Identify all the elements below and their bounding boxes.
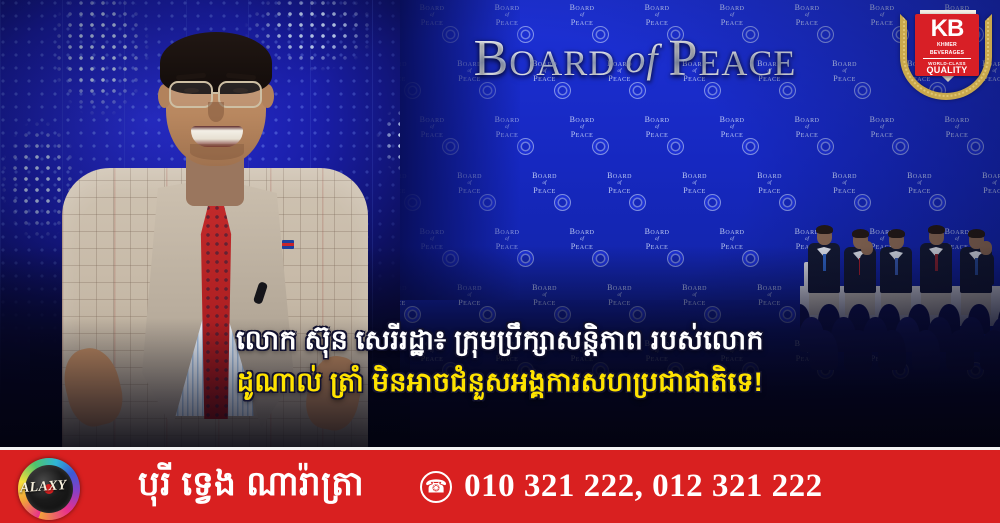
kb-red-plate: KB KHMER BEVERAGES WORLD-CLASS QUALITY — [915, 14, 979, 76]
speaker-nose — [208, 102, 224, 122]
kb-tagline-big: QUALITY — [927, 66, 968, 75]
speaker-eyeglass-lens-left — [169, 81, 213, 108]
sponsor-name-khmer: បុរី ទ្វេង ណារ៉ាត្រា — [138, 462, 364, 512]
galaxy-logo[interactable]: ALAXY — [4, 452, 96, 522]
kb-initials: KB — [931, 17, 964, 41]
headline-line-2: ដូណាល់ ត្រាំ មិនអាចជំនួសអង្គការសហប្រជាជា… — [237, 364, 763, 400]
kb-sponsor-logo: KB KHMER BEVERAGES WORLD-CLASS QUALITY — [898, 2, 994, 102]
speaker-chin — [190, 144, 244, 160]
phone-numbers: 010 321 222, 012 321 222 — [464, 468, 823, 505]
cambodian-flag-pin — [282, 240, 294, 249]
kb-brand-line2: BEVERAGES — [930, 50, 964, 57]
contact-phone-block[interactable]: 010 321 222, 012 321 222 — [420, 468, 823, 505]
kb-divider — [923, 58, 971, 59]
speaker-eyeglass-bridge — [213, 92, 219, 94]
speaker-eyeglass-lens-right — [218, 81, 262, 108]
headline-block: លោក ស៊ុន សេរីរដ្ឋា៖ ក្រុមប្រឹក្សាសន្តិភា… — [0, 322, 1000, 401]
headline-line-1: លោក ស៊ុន សេរីរដ្ឋា៖ ក្រុមប្រឹក្សាសន្តិភា… — [236, 322, 764, 358]
promo-banner-image: BoardofPeaceBoardofPeaceBoardofPeaceBoar… — [0, 0, 1000, 523]
kb-brand-line1: KHMER — [937, 42, 957, 49]
bottom-sponsor-banner: ALAXY បុរី ទ្វេង ណារ៉ាត្រា 010 321 222, … — [0, 447, 1000, 523]
phone-icon — [420, 471, 452, 503]
photo-area: BoardofPeaceBoardofPeaceBoardofPeaceBoar… — [0, 0, 1000, 447]
